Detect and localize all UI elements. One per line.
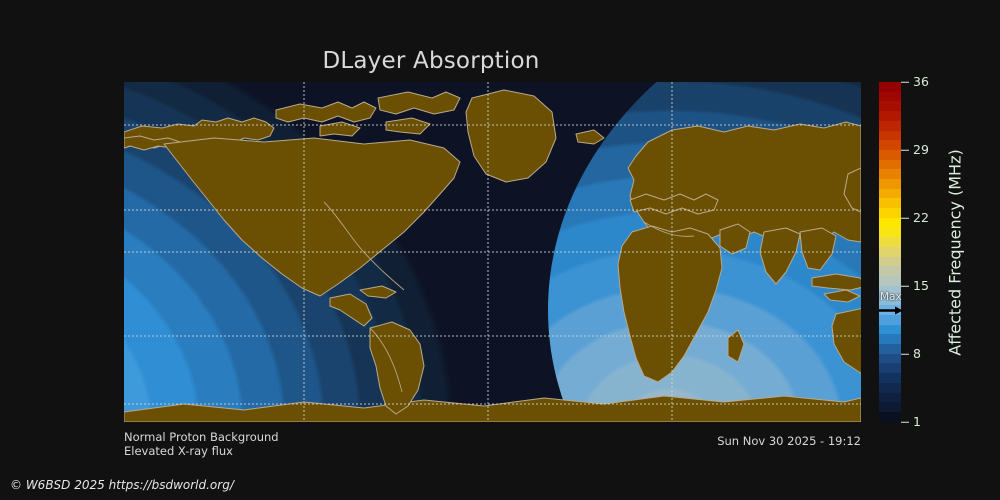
colorbar-tick-dash xyxy=(901,422,909,423)
world-absorption-map[interactable] xyxy=(124,82,861,422)
colorbar-tick-dash xyxy=(901,150,909,151)
colorbar-tick-label: 15 xyxy=(913,280,929,293)
colorbar-band xyxy=(879,402,901,412)
colorbar-band xyxy=(879,169,901,179)
colorbar-band xyxy=(879,218,901,228)
colorbar-band xyxy=(879,354,901,364)
colorbar-band xyxy=(879,247,901,257)
colorbar-band xyxy=(879,344,901,354)
colorbar-band xyxy=(879,295,901,305)
colorbar-band xyxy=(879,111,901,121)
colorbar-band xyxy=(879,286,901,296)
colorbar[interactable] xyxy=(879,82,901,422)
colorbar-axis-title-text: Affected Frequency (MHz) xyxy=(946,149,965,355)
colorbar-band xyxy=(879,140,901,150)
colorbar-tick-label: 29 xyxy=(913,144,929,157)
colorbar-band xyxy=(879,276,901,286)
colorbar-band xyxy=(879,412,901,422)
colorbar-band xyxy=(879,150,901,160)
colorbar-band xyxy=(879,257,901,267)
colorbar-tick: 15 xyxy=(901,280,929,293)
colorbar-band xyxy=(879,179,901,189)
colorbar-tick-dash xyxy=(901,354,909,355)
colorbar-band xyxy=(879,315,901,325)
colorbar-tick: 22 xyxy=(901,212,929,225)
timestamp: Sun Nov 30 2025 - 19:12 xyxy=(717,434,861,448)
status-note-xray: Elevated X-ray flux xyxy=(124,444,233,458)
colorbar-tick: 1 xyxy=(901,416,921,429)
colorbar-band xyxy=(879,363,901,373)
colorbar-band xyxy=(879,160,901,170)
colorbar-band xyxy=(879,334,901,344)
colorbar-tick-label: 36 xyxy=(913,76,929,89)
colorbar-band xyxy=(879,228,901,238)
colorbar-tick-label: 22 xyxy=(913,212,929,225)
colorbar-tick-dash xyxy=(901,286,909,287)
colorbar-band xyxy=(879,121,901,131)
colorbar-tick-dash xyxy=(901,218,909,219)
page-title: DLayer Absorption xyxy=(0,48,862,74)
colorbar-band xyxy=(879,373,901,383)
colorbar-band xyxy=(879,383,901,393)
dlayer-absorption-page: DLayer Absorption xyxy=(0,0,1000,500)
colorbar-band xyxy=(879,101,901,111)
colorbar-band xyxy=(879,305,901,315)
colorbar-band xyxy=(879,82,901,92)
colorbar-band xyxy=(879,237,901,247)
colorbar-tick-label: 1 xyxy=(913,416,921,429)
colorbar-tick: 8 xyxy=(901,348,921,361)
colorbar-band xyxy=(879,131,901,141)
colorbar-band xyxy=(879,189,901,199)
map-canvas xyxy=(124,82,861,422)
colorbar-tick: 36 xyxy=(901,76,929,89)
colorbar-band xyxy=(879,393,901,403)
copyright-notice: © W6BSD 2025 https://bsdworld.org/ xyxy=(10,478,234,492)
colorbar-band xyxy=(879,92,901,102)
colorbar-axis-title: Affected Frequency (MHz) xyxy=(944,82,966,422)
colorbar-band xyxy=(879,208,901,218)
colorbar-tick-dash xyxy=(901,82,909,83)
colorbar-band xyxy=(879,325,901,335)
colorbar-tick-label: 8 xyxy=(913,348,921,361)
colorbar-band xyxy=(879,266,901,276)
status-note-proton: Normal Proton Background xyxy=(124,430,279,444)
colorbar-tick: 29 xyxy=(901,144,929,157)
colorbar-band xyxy=(879,198,901,208)
